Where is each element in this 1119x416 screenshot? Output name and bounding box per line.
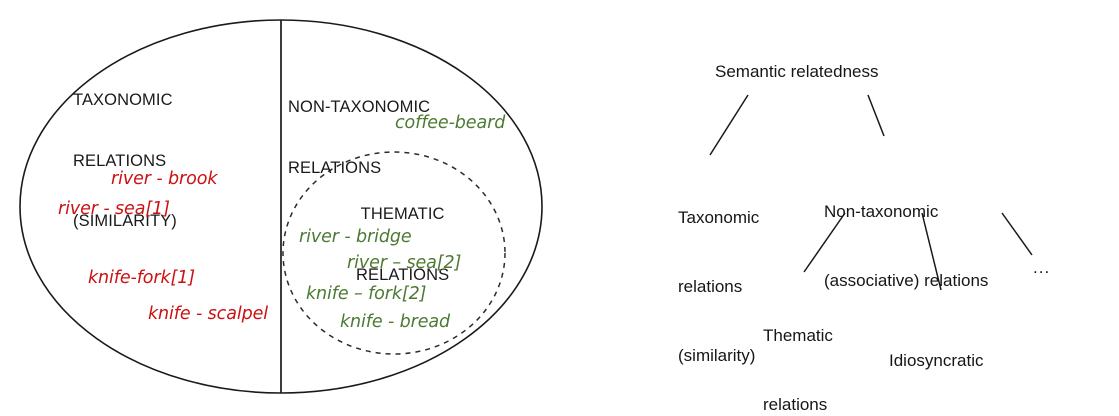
taxonomic-title-line-2: RELATIONS (73, 151, 177, 171)
thematic-example-knife-bread: knife - bread (340, 312, 450, 333)
edge-root-to-nontaxonomic (868, 95, 884, 136)
tree-node-root: Semantic relatedness (715, 61, 878, 84)
tree-node-thematic-line-2: relations (763, 394, 833, 416)
tree-node-taxonomic-line-1: Taxonomic (678, 207, 759, 230)
taxonomic-title-line-1: TAXONOMIC (73, 90, 177, 110)
tree-node-taxonomic-line-3: (similarity) (678, 345, 759, 368)
tree-node-thematic-line-1: Thematic (763, 325, 833, 348)
tree-node-more: ... (1033, 258, 1050, 279)
edge-nontaxonomic-to-more (1002, 213, 1032, 255)
figure-canvas: TAXONOMIC RELATIONS (SIMILARITY) river -… (0, 0, 1119, 416)
taxonomic-example-knife-fork: knife-fork[1] (88, 268, 195, 289)
thematic-example-knife-fork: knife – fork[2] (306, 284, 426, 305)
thematic-title-line-1: THEMATIC (356, 204, 449, 224)
tree-node-nontaxonomic-line-2: (associative) relations (824, 270, 988, 293)
taxonomic-example-river-brook: river - brook (111, 169, 217, 190)
thematic-example-river-sea: river – sea[2] (347, 253, 461, 274)
taxonomic-example-knife-scalpel: knife - scalpel (148, 304, 268, 325)
tree-node-idiosyncratic: Idiosyncratic memories (889, 304, 983, 416)
thematic-example-river-bridge: river - bridge (299, 227, 412, 248)
tree-node-taxonomic: Taxonomic relations (similarity) (678, 161, 759, 413)
taxonomic-example-river-sea: river - sea[1] (58, 199, 170, 220)
tree-node-nontaxonomic-line-1: Non-taxonomic (824, 201, 988, 224)
tree-node-thematic: Thematic relations (763, 279, 833, 416)
taxonomic-region-title: TAXONOMIC RELATIONS (SIMILARITY) (73, 50, 177, 271)
tree-node-taxonomic-line-2: relations (678, 276, 759, 299)
tree-node-idiosyncratic-line-1: Idiosyncratic (889, 350, 983, 373)
nontaxonomic-example-coffee-beard: coffee-beard (395, 113, 505, 134)
edge-root-to-taxonomic (710, 95, 748, 155)
